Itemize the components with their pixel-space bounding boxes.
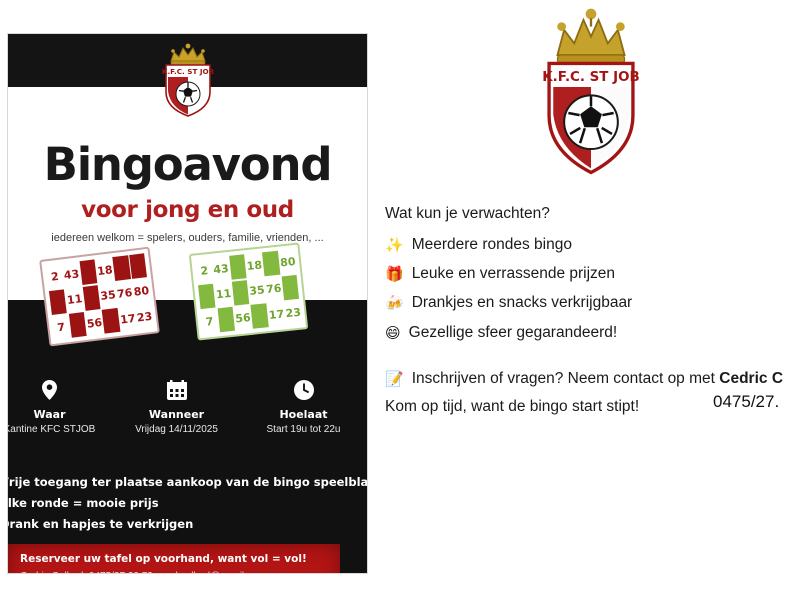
bingo-cell-marked (129, 253, 147, 279)
bingo-cell-marked (82, 285, 100, 311)
smiley-icon: 😄 (385, 326, 401, 341)
bingo-cell: 18 (96, 257, 114, 283)
bingo-cell: 76 (265, 276, 283, 301)
info-column-hoelaat: Hoelaat Start 19u tot 22u (240, 379, 367, 435)
beer-icon: 🍻 (385, 296, 404, 311)
bingo-cell: 23 (135, 304, 153, 330)
memo-icon: 📝 (385, 372, 404, 387)
bingo-cell: 7 (201, 309, 219, 334)
contact-line: 📝 Inschrijven of vragen? Neem contact op… (385, 370, 783, 388)
info-value-hoelaat: Start 19u tot 22u (240, 424, 367, 435)
bingo-card-red-grid: 24318113576807561723 (46, 253, 154, 340)
contact-phone: 0475/27. (713, 392, 779, 412)
bingo-cell-marked (282, 274, 300, 299)
bingo-card-red: 24318113576807561723 (39, 247, 160, 347)
info-title-waar: Waar (8, 408, 113, 421)
bingo-cell: 11 (66, 287, 84, 313)
clock-icon (240, 379, 367, 401)
bingo-card-green-grid: 24318801135767561723 (195, 249, 302, 334)
bingo-cell-marked (231, 280, 249, 305)
bingo-cell: 23 (284, 300, 302, 325)
bingo-cell: 43 (212, 256, 230, 281)
bingo-cell-marked (113, 255, 131, 281)
right-heading: Wat kun je verwachten? (385, 205, 550, 223)
expect-item-2-label: Leuke en verrassende prijzen (412, 265, 615, 283)
expect-item-1: ✨ Meerdere rondes bingo (385, 236, 572, 254)
bullet-item: Vrije toegang ter plaatse aankoop van de… (8, 472, 367, 493)
expect-item-3: 🍻 Drankjes en snacks verkrijgbaar (385, 294, 632, 312)
reservation-title: Reserveer uw tafel op voorhand, want vol… (20, 553, 307, 565)
gift-icon: 🎁 (385, 267, 404, 282)
bingo-cell: 80 (132, 279, 150, 305)
expect-item-1-label: Meerdere rondes bingo (412, 236, 572, 254)
bingo-cell: 76 (116, 281, 134, 307)
bingo-cell: 2 (195, 258, 213, 283)
club-crest-large: K.F.C. ST JOB (539, 4, 643, 185)
bingo-cell: 2 (46, 263, 64, 289)
location-pin-icon (8, 379, 113, 401)
bingo-cell: 56 (85, 310, 103, 336)
info-title-wanneer: Wanneer (113, 408, 240, 421)
bingo-cell-marked (262, 251, 280, 276)
bingo-card-green: 24318801135767561723 (189, 242, 309, 340)
right-content-panel: K.F.C. ST JOB Wat kun je verwachten? ✨ M… (380, 0, 800, 600)
sparkles-icon: ✨ (385, 238, 404, 253)
bingo-cell: 17 (119, 306, 137, 332)
svg-text:K.F.C. ST JOB: K.F.C. ST JOB (161, 67, 213, 76)
closing-line: Kom op tijd, want de bingo start stipt! (385, 398, 639, 416)
poster-tagline: iedereen welkom = spelers, ouders, famil… (8, 232, 367, 244)
crest-text: K.F.C. ST JOB (542, 70, 639, 85)
bingo-cell-marked (102, 308, 120, 334)
reservation-box: Reserveer uw tafel op voorhand, want vol… (8, 544, 340, 573)
calendar-icon (113, 379, 240, 401)
bingo-cell: 56 (234, 305, 252, 330)
info-column-wanneer: Wanneer Vrijdag 14/11/2025 (113, 379, 240, 435)
poster-info-row: Waar Kantine KFC STJOB Wanneer Vrijdag 1… (8, 379, 367, 435)
info-value-wanneer: Vrijdag 14/11/2025 (113, 424, 240, 435)
info-title-hoelaat: Hoelaat (240, 408, 367, 421)
bingo-cell-marked (198, 283, 216, 308)
bingo-cell-marked (217, 307, 235, 332)
bingo-cell-marked (49, 289, 67, 315)
poster-bullet-list: Vrije toegang ter plaatse aankoop van de… (8, 472, 367, 535)
info-column-waar: Waar Kantine KFC STJOB (8, 379, 113, 435)
info-value-waar: Kantine KFC STJOB (8, 424, 113, 435)
bingo-cell: 11 (215, 281, 233, 306)
poster-subheadline: voor jong en oud (8, 197, 367, 223)
expect-item-4: 😄 Gezellige sfeer gegarandeerd! (385, 324, 617, 342)
bingo-cell-marked (229, 254, 247, 279)
bullet-item: Elke ronde = mooie prijs (8, 493, 367, 514)
poster-headline: Bingoavond (8, 138, 367, 191)
expect-item-3-label: Drankjes en snacks verkrijgbaar (412, 294, 633, 312)
expect-item-4-label: Gezellige sfeer gegarandeerd! (409, 324, 618, 342)
bingo-poster: K.F.C. ST JOB Bingoavond voor jong en ou… (8, 34, 367, 573)
bingo-cell: 80 (279, 249, 297, 274)
bullet-item: Drank en hapjes te verkrijgen (8, 514, 367, 535)
club-crest-small: K.F.C. ST JOB (157, 42, 219, 118)
contact-line-prefix: Inschrijven of vragen? Neem contact op m… (412, 370, 720, 387)
bingo-cards-illustration: 24318113576807561723 2431880113576756172… (8, 248, 367, 366)
bingo-cell: 7 (52, 314, 70, 340)
bingo-cell: 18 (246, 253, 264, 278)
bingo-cell: 35 (248, 278, 266, 303)
bingo-cell-marked (79, 259, 97, 285)
expect-item-2: 🎁 Leuke en verrassende prijzen (385, 265, 615, 283)
bingo-cell: 35 (99, 283, 117, 309)
bingo-cell-marked (69, 312, 87, 338)
bingo-cell: 17 (268, 301, 286, 326)
reservation-contact: Cedric Collard: 0475/27.20.73 - ced.coll… (20, 571, 266, 573)
bingo-cell: 43 (62, 261, 80, 287)
contact-name: Cedric C (719, 370, 783, 387)
bingo-cell-marked (251, 303, 269, 328)
